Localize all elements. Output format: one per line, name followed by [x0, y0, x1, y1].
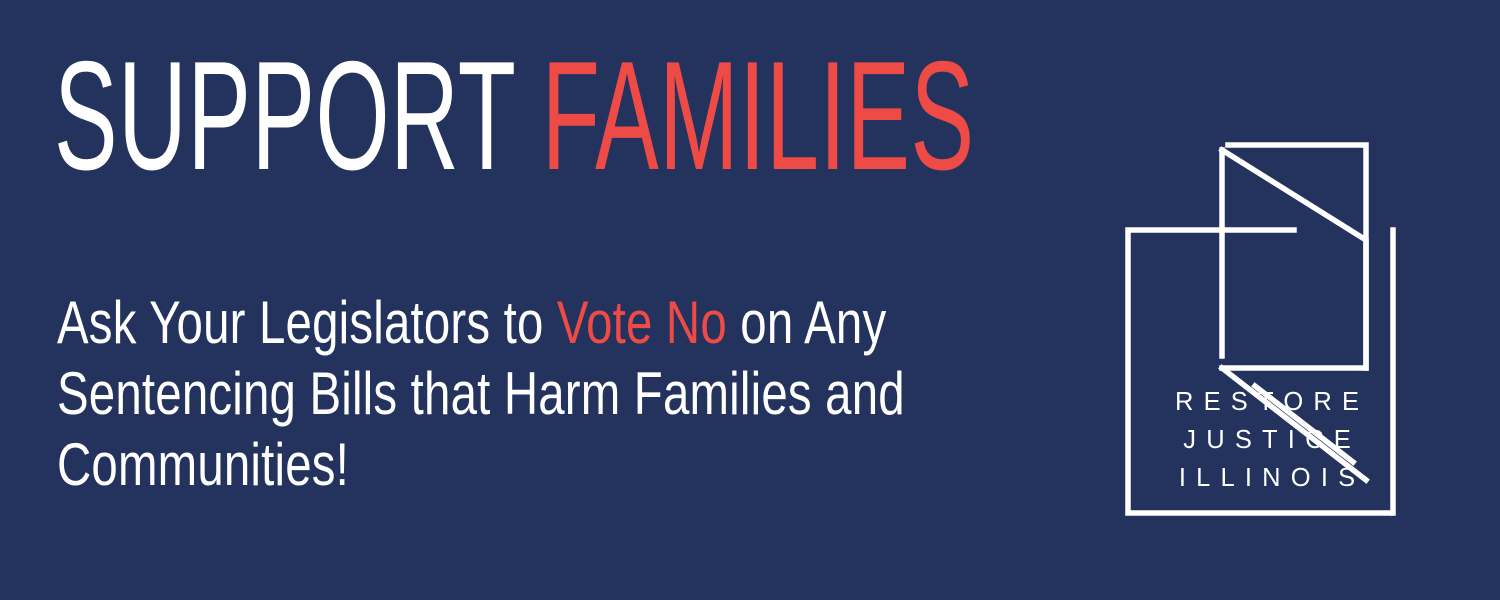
subtitle-text-before: Ask Your Legislators to: [57, 289, 557, 356]
subtitle-text-block: Ask Your Legislators to Vote No on Any S…: [57, 287, 1100, 500]
headline-separator: [515, 29, 542, 202]
subtitle-highlight-vote-no: Vote No: [557, 289, 727, 356]
campaign-banner: SUPPORT FAMILIES Ask Your Legislators to…: [0, 0, 1500, 600]
logo-wordmark: RESTORE JUSTICE ILLINOIS: [1152, 383, 1382, 497]
logo-wordmark-line-restore: RESTORE: [1152, 383, 1382, 421]
logo-wordmark-line-justice: JUSTICE: [1152, 421, 1382, 459]
logo-wordmark-line-illinois: ILLINOIS: [1152, 459, 1382, 497]
subtitle: Ask Your Legislators to Vote No on Any S…: [57, 287, 1067, 500]
headline-word-families: FAMILIES: [542, 29, 975, 202]
page-title: SUPPORT FAMILIES: [54, 38, 975, 193]
headline-word-support: SUPPORT: [54, 29, 515, 202]
